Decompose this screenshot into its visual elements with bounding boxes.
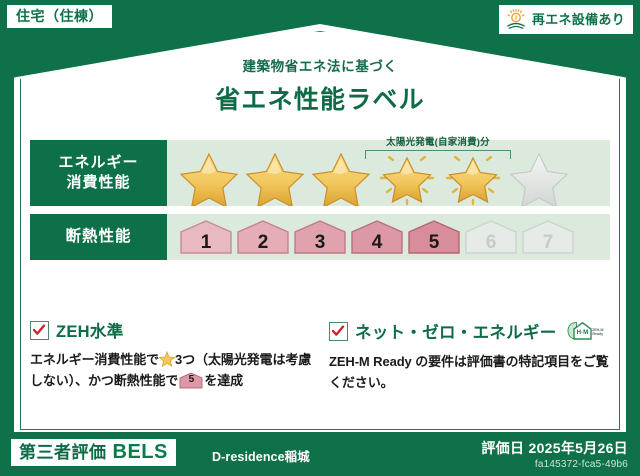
title-block: 建築物省エネ法に基づく 省エネ性能ラベル <box>0 55 640 116</box>
energy-label-root: 住宅（住棟） 2 再エネ設備あり 建 <box>0 0 640 476</box>
svg-text:H·M: H·M <box>576 329 588 336</box>
star-4-solar <box>375 150 439 206</box>
zeh-title: ZEH水準 <box>56 318 124 342</box>
nze-description: ZEH-M Ready の要件は評価書の特記項目をご覧ください。 <box>329 351 614 394</box>
energy-performance-label-line2: 消費性能 <box>66 173 130 193</box>
star-5-solar <box>441 150 505 206</box>
info-columns: ZEH水準 エネルギー消費性能で 3つ（太陽光発電は考慮しない）、かつ断熱性能で… <box>30 318 614 394</box>
insulation-performance-label-text: 断熱性能 <box>65 227 131 248</box>
evaluation-id: fa145372-fca5-49b6 <box>535 459 628 470</box>
insulation-badge-5-value: 5 <box>429 233 440 252</box>
star-3 <box>309 150 373 206</box>
third-party-label: 第三者評価 <box>19 444 107 461</box>
inline-insulation-badge-5: 5 <box>179 372 203 389</box>
title-main: 省エネ性能ラベル <box>0 80 640 116</box>
bels-label: BELS <box>113 442 168 462</box>
nze-check-icon <box>329 322 348 341</box>
insulation-badge-1-value: 1 <box>201 233 212 252</box>
insulation-performance-label: 断熱性能 <box>30 214 167 260</box>
bels-chip: 第三者評価 BELS <box>10 438 177 467</box>
energy-performance-row: エネルギー 消費性能 太陽光発電(自家消費)分 <box>30 140 610 206</box>
evaluation-date-label: 評価日 <box>481 440 524 456</box>
insulation-badge-4-value: 4 <box>372 233 383 252</box>
building-name: D-residence稲城 <box>212 446 310 465</box>
solar-annotation-label: 太陽光発電(自家消費)分 <box>365 138 511 148</box>
dwelling-type-label: 住宅（住棟） <box>16 8 103 24</box>
inline-star-icon <box>159 351 175 367</box>
insulation-badge-6: 6 <box>464 219 518 255</box>
star-1 <box>177 150 241 206</box>
sun-renewable-icon: 2 <box>505 8 527 30</box>
evaluation-date: 評価日 2025年5月26日 <box>481 438 628 458</box>
zeh-description-part1: エネルギー消費性能で <box>30 352 159 367</box>
insulation-badge-7: 7 <box>521 219 575 255</box>
energy-performance-label-line1: エネルギー <box>58 153 138 173</box>
performance-rows: エネルギー 消費性能 太陽光発電(自家消費)分 <box>30 140 610 260</box>
renewable-equipment-label: 再エネ設備あり <box>532 13 625 26</box>
zeh-check-icon <box>30 321 49 340</box>
svg-text:2: 2 <box>514 16 517 22</box>
insulation-badge-2-value: 2 <box>258 233 269 252</box>
insulation-badge-2: 2 <box>236 219 290 255</box>
insulation-performance-row: 断熱性能 1 2 <box>30 214 610 260</box>
zeh-description-part3: を達成 <box>204 373 243 388</box>
insulation-performance-track: 1 2 3 <box>167 214 610 260</box>
dwelling-type-chip: 住宅（住棟） <box>6 4 113 29</box>
zeh-description: エネルギー消費性能で 3つ（太陽光発電は考慮しない）、かつ断熱性能で 5 を達成 <box>30 349 315 392</box>
insulation-badge-3: 3 <box>293 219 347 255</box>
star-2 <box>243 150 307 206</box>
zeh-info-header: ZEH水準 <box>30 318 315 342</box>
insulation-badge-track: 1 2 3 <box>167 219 575 255</box>
title-subtitle: 建築物省エネ法に基づく <box>0 55 640 75</box>
svg-text:Ready: Ready <box>592 332 603 336</box>
zeh-description-star-text: 3つ（太陽光発電 <box>175 352 272 367</box>
insulation-badge-1: 1 <box>179 219 233 255</box>
star-rating-track <box>167 150 571 206</box>
inline-insulation-badge-5-value: 5 <box>179 372 203 389</box>
zeh-info-column: ZEH水準 エネルギー消費性能で 3つ（太陽光発電は考慮しない）、かつ断熱性能で… <box>30 318 315 394</box>
star-6-empty <box>507 150 571 206</box>
footer-bar: 第三者評価 BELS D-residence稲城 評価日 2025年5月26日 … <box>0 432 640 476</box>
renewable-equipment-chip: 2 再エネ設備あり <box>498 4 634 35</box>
insulation-badge-6-value: 6 <box>486 233 497 252</box>
insulation-badge-5: 5 <box>407 219 461 255</box>
nze-info-column: ネット・ゼロ・エネルギー H·M ZEH-M Ready ZEH-M Ready… <box>329 318 614 394</box>
insulation-badge-3-value: 3 <box>315 233 326 252</box>
evaluation-date-value: 2025年5月26日 <box>528 440 628 456</box>
insulation-badge-7-value: 7 <box>543 233 554 252</box>
energy-performance-track: 太陽光発電(自家消費)分 <box>167 140 610 206</box>
nze-info-header: ネット・ゼロ・エネルギー H·M ZEH-M Ready <box>329 318 614 344</box>
energy-performance-label: エネルギー 消費性能 <box>30 140 167 206</box>
insulation-badge-4: 4 <box>350 219 404 255</box>
nze-title: ネット・ゼロ・エネルギー <box>355 319 557 343</box>
zeh-m-ready-logo: H·M ZEH-M Ready <box>564 318 604 344</box>
